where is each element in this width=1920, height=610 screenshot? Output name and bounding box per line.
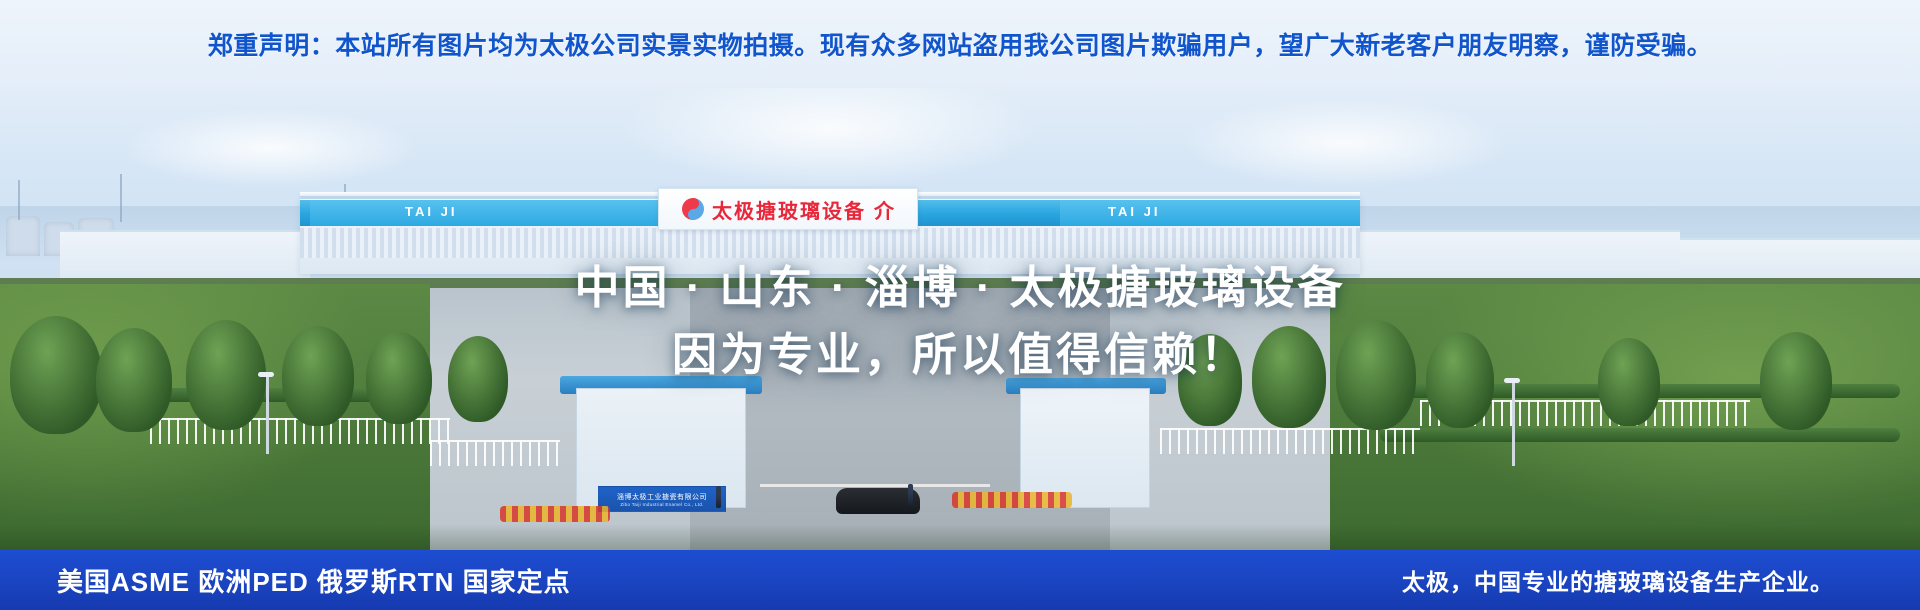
- street-lamp-head: [1504, 378, 1520, 383]
- building-sign-mark-icon: 介: [874, 195, 894, 224]
- tree: [282, 326, 354, 426]
- guard-person: [908, 484, 913, 506]
- factory-photo: TAI JI TAI JI 太极搪玻璃设备 介: [0, 88, 1920, 550]
- tree: [10, 316, 102, 434]
- tree: [1598, 338, 1660, 426]
- tree: [1760, 332, 1832, 430]
- yinyang-taiji-icon: [682, 198, 704, 220]
- cloud: [120, 108, 420, 188]
- flower-bed: [500, 506, 610, 522]
- street-lamp-pole: [266, 374, 269, 454]
- gate-barrier-arm: [760, 484, 990, 487]
- gate-company-sign: 淄博太极工业搪瓷有限公司 Zibo Taiji Industrial Ename…: [598, 486, 726, 512]
- perimeter-fence: [1160, 428, 1420, 454]
- factory-band-right: [1060, 200, 1360, 226]
- tree: [96, 328, 172, 432]
- cloud: [1180, 98, 1510, 188]
- roof-label-left: TAI JI: [405, 204, 457, 219]
- banner-page: 郑重声明：本站所有图片均为太极公司实景实物拍摄。现有众多网站盗用我公司图片欺骗用…: [0, 0, 1920, 610]
- hedge-row: [1380, 428, 1900, 442]
- declaration-bar: 郑重声明：本站所有图片均为太极公司实景实物拍摄。现有众多网站盗用我公司图片欺骗用…: [0, 0, 1920, 88]
- tree: [186, 320, 266, 430]
- perimeter-fence: [430, 440, 560, 466]
- bottom-certification-bar: 美国ASME 欧洲PED 俄罗斯RTN 国家定点 太极，中国专业的搪玻璃设备生产…: [0, 550, 1920, 610]
- guard-person: [716, 486, 721, 508]
- storage-tank: [6, 216, 40, 256]
- flower-bed: [952, 492, 1072, 508]
- slogan-text: 太极，中国专业的搪玻璃设备生产企业。: [1402, 563, 1834, 597]
- photo-bottom-fade: [0, 524, 1920, 550]
- building-sign-panel: 太极搪玻璃设备 介: [658, 188, 918, 230]
- certification-text: 美国ASME 欧洲PED 俄罗斯RTN 国家定点: [57, 562, 571, 599]
- declaration-text: 郑重声明：本站所有图片均为太极公司实景实物拍摄。现有众多网站盗用我公司图片欺骗用…: [208, 26, 1713, 62]
- tree: [1178, 334, 1242, 426]
- tree: [1252, 326, 1326, 428]
- street-lamp-head: [258, 372, 274, 377]
- tree: [448, 336, 508, 422]
- roof-label-right: TAI JI: [1108, 204, 1160, 219]
- street-lamp-pole: [1512, 380, 1515, 466]
- gate-sign-chinese: 淄博太极工业搪瓷有限公司: [617, 492, 707, 502]
- tree: [1336, 320, 1416, 430]
- tower-mast: [120, 174, 122, 222]
- tree: [1426, 332, 1494, 428]
- factory-window-row: [300, 228, 1360, 258]
- tree: [366, 332, 432, 424]
- gate-sign-english: Zibo Taiji Industrial Enamel Co., Ltd.: [620, 502, 703, 507]
- tower-mast: [18, 180, 20, 220]
- building-sign-name: 太极搪玻璃设备: [712, 195, 866, 224]
- guardhouse-right: [1020, 388, 1150, 508]
